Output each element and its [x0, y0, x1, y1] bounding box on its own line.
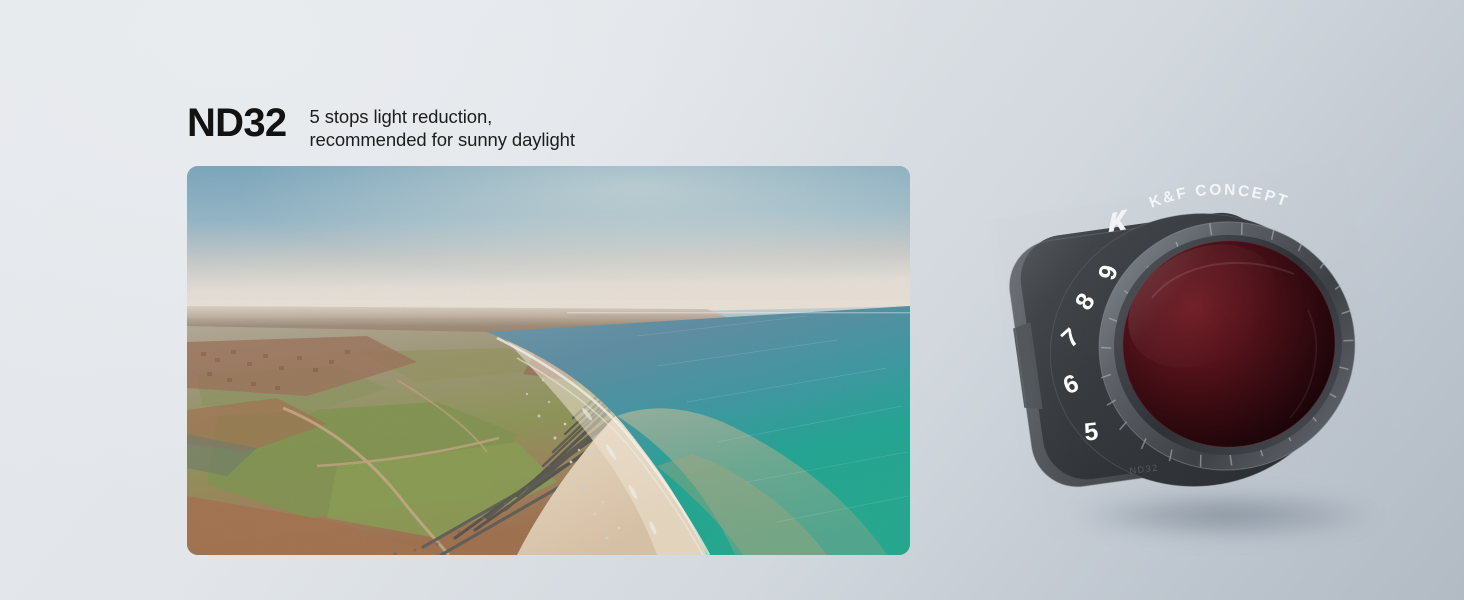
description-line-1: 5 stops light reduction,: [309, 105, 574, 128]
sample-photo: [187, 166, 910, 555]
sample-photo-graphic: [187, 166, 910, 555]
page-title: ND32: [187, 102, 286, 144]
description-line-2: recommended for sunny daylight: [309, 128, 574, 151]
headline-block: ND32 5 stops light reduction, recommende…: [187, 102, 575, 151]
nd-filter-graphic: K&F CONCEPT 9 8 7 6 5: [1002, 178, 1392, 508]
headline-description: 5 stops light reduction, recommended for…: [309, 105, 574, 151]
product-banner: ND32 5 stops light reduction, recommende…: [0, 0, 1464, 600]
brand-text: K&F CONCEPT: [1147, 182, 1291, 212]
product-image: K&F CONCEPT 9 8 7 6 5: [1002, 178, 1392, 508]
